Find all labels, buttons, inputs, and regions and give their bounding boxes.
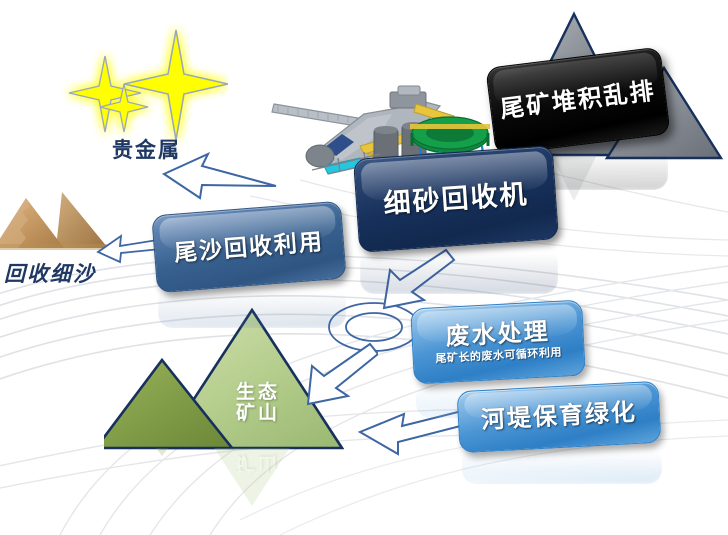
wastewater-treatment-title: 废水处理 [445, 320, 550, 351]
eco-mine-label-line2: 矿山 [220, 403, 296, 424]
riverbank-greening-title: 河堤保育绿化 [480, 400, 637, 433]
eco-mine-reflection-line: 矿山 [220, 452, 296, 473]
tailings-dumping-title: 尾矿堆积乱排 [499, 79, 657, 123]
fine-sand-recycler-plate[interactable]: 细砂回收机 [353, 145, 559, 253]
precious-metals-label: 贵金属 [112, 134, 181, 164]
recovered-fine-sand-label: 回收细沙 [4, 258, 96, 288]
tailings-reuse-plate-reflection [158, 288, 346, 328]
fine-sand-recycler-plate-reflection [360, 248, 558, 294]
fine-sand-recycler-title: 细砂回收机 [383, 180, 530, 218]
tailings-reuse-title: 尾沙回收利用 [173, 229, 324, 265]
infographic-canvas: 生态 矿山 矿山 贵金属 回收细沙 尾矿堆积乱排 [0, 0, 728, 535]
tailings-reuse-plate[interactable]: 尾沙回收利用 [151, 201, 347, 294]
riverbank-greening-plate[interactable]: 河堤保育绿化 [457, 381, 662, 453]
eco-mine-label-reflection: 矿山 [220, 452, 296, 473]
eco-mine-label-line1: 生态 [220, 382, 296, 403]
wastewater-treatment-plate[interactable]: 废水处理 尾矿长的废水可循环利用 [410, 300, 586, 385]
riverbank-greening-plate-reflection [462, 448, 662, 484]
eco-mine-label: 生态 矿山 [220, 382, 296, 425]
sparkle-star-icon [58, 18, 228, 148]
